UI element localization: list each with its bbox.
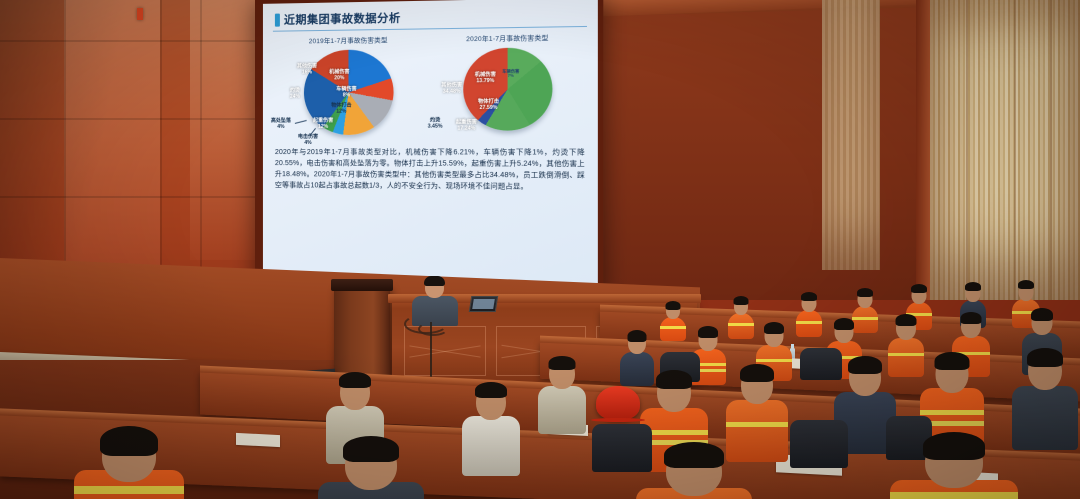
presentation-slide: 近期集团事故数据分析 2019年1-7月事故伤害类型 机械伤害20% 车辆伤害8… <box>263 0 598 286</box>
worker-hair <box>896 314 917 326</box>
worker-shirt <box>462 416 520 476</box>
worker-hair <box>923 432 985 460</box>
audience-worker <box>636 446 752 499</box>
slice-label-0: 机械伤害13.79% <box>475 73 496 85</box>
slice-label-5: 其他伤害34.48% <box>441 83 462 95</box>
wall-seam <box>0 40 262 42</box>
projection-screen-frame: 近期集团事故数据分析 2019年1-7月事故伤害类型 机械伤害20% 车辆伤害8… <box>255 0 603 295</box>
audience-worker <box>462 382 520 474</box>
slide-title-row: 近期集团事故数据分析 <box>275 6 589 28</box>
slice-label-4: 电击伤害4% <box>298 135 318 146</box>
worker-jacket <box>1012 386 1078 450</box>
chair-back <box>790 420 848 468</box>
pie-plot-area-2020: 机械伤害13.79% 车辆伤害7% 物体打击27.59% 起重伤害17.24% … <box>429 43 587 143</box>
worker-hair <box>911 284 927 293</box>
cable <box>418 322 448 336</box>
podium-top <box>331 279 393 291</box>
label-leader-line <box>295 120 307 124</box>
worker-hair <box>857 288 873 297</box>
slide-body-text: 2020年与2019年1-7月事故类型对比，机械伤害下降6.21%，车辆伤害下降… <box>275 148 585 194</box>
slice-label-7: 其他伤害16% <box>297 64 317 75</box>
worker-jacket <box>796 310 822 337</box>
slice-label-1: 车辆伤害7% <box>502 69 519 78</box>
worker-jacket <box>660 317 686 341</box>
curtain-wall-edge <box>916 0 930 300</box>
slice-label-4: 灼烫3.45% <box>428 118 443 129</box>
slice-label-2: 物体打击12% <box>331 103 351 114</box>
projection-screen: 近期集团事故数据分析 2019年1-7月事故伤害类型 机械伤害20% 车辆伤害8… <box>263 0 598 286</box>
microphone-stand <box>430 322 432 380</box>
worker-hair <box>848 356 882 374</box>
worker-hair <box>801 292 817 301</box>
slice-label-1: 车辆伤害8% <box>336 87 356 98</box>
window-curtain-center <box>822 0 880 270</box>
worker-hair <box>935 352 970 370</box>
safety-helmet <box>596 386 640 420</box>
worker-hair <box>549 356 576 370</box>
slide-title: 近期集团事故数据分析 <box>284 9 401 27</box>
slice-label-3: 起重伤害17.24% <box>456 120 477 132</box>
paper-document <box>236 433 280 447</box>
audience-worker <box>538 356 586 432</box>
title-accent-chip <box>275 13 280 26</box>
audience-worker <box>796 292 822 336</box>
audience-worker <box>74 430 184 499</box>
slice-label-2: 物体打击27.59% <box>478 100 499 112</box>
audience-worker <box>728 296 754 338</box>
wall-seam <box>0 118 262 120</box>
worker-hair <box>764 322 784 334</box>
worker-jacket <box>728 313 754 339</box>
audience-worker <box>660 300 686 340</box>
audience-worker <box>890 436 1018 499</box>
worker-hair <box>1031 308 1053 321</box>
presenter-hair <box>424 276 445 286</box>
worker-hair <box>740 364 774 382</box>
pie-plot-area-2019: 机械伤害20% 车辆伤害8% 物体打击12% 起重伤害12% 电击伤害4% 高处… <box>273 45 425 143</box>
worker-hair <box>343 436 399 462</box>
worker-hair <box>1027 348 1063 367</box>
worker-hair <box>961 312 982 324</box>
worker-hair <box>834 318 854 330</box>
worker-hair <box>698 326 718 338</box>
conference-room-photo: 近期集团事故数据分析 2019年1-7月事故伤害类型 机械伤害20% 车辆伤害8… <box>0 0 1080 499</box>
table-panel <box>404 326 486 376</box>
slice-label-0: 机械伤害20% <box>329 70 349 82</box>
wall-marker-icon <box>137 8 143 20</box>
worker-hair <box>664 442 724 468</box>
worker-hair <box>965 282 981 291</box>
worker-hair <box>475 382 507 398</box>
worker-hair <box>734 296 749 305</box>
audience-worker <box>318 440 424 499</box>
laptop-screen <box>472 299 495 309</box>
chart-row: 2019年1-7月事故伤害类型 机械伤害20% 车辆伤害8% 物体打击12% 起… <box>271 32 589 143</box>
worker-hair <box>1018 280 1034 289</box>
worker-hair <box>628 330 647 342</box>
pie-slices-2020 <box>463 47 552 130</box>
worker-hair <box>656 370 692 389</box>
worker-hair <box>100 426 158 456</box>
slice-label-5: 高处坠落4% <box>271 119 291 130</box>
wall-seam <box>0 196 262 198</box>
podium <box>334 286 390 378</box>
worker-shirt <box>538 386 586 434</box>
window-curtain-right <box>930 0 1080 300</box>
laptop-lid <box>469 296 499 312</box>
slice-label-6: 灼烫24% <box>290 89 300 100</box>
worker-hair <box>666 301 681 310</box>
audience-worker <box>1012 348 1078 448</box>
pie-chart-2019: 2019年1-7月事故伤害类型 机械伤害20% 车辆伤害8% 物体打击12% 起… <box>273 35 425 143</box>
pie-chart-2020: 2020年1-7月事故伤害类型 机械伤害13.79% 车辆伤害7% 物体打击27… <box>429 32 587 143</box>
worker-hair <box>339 372 371 388</box>
laptop <box>466 296 500 315</box>
